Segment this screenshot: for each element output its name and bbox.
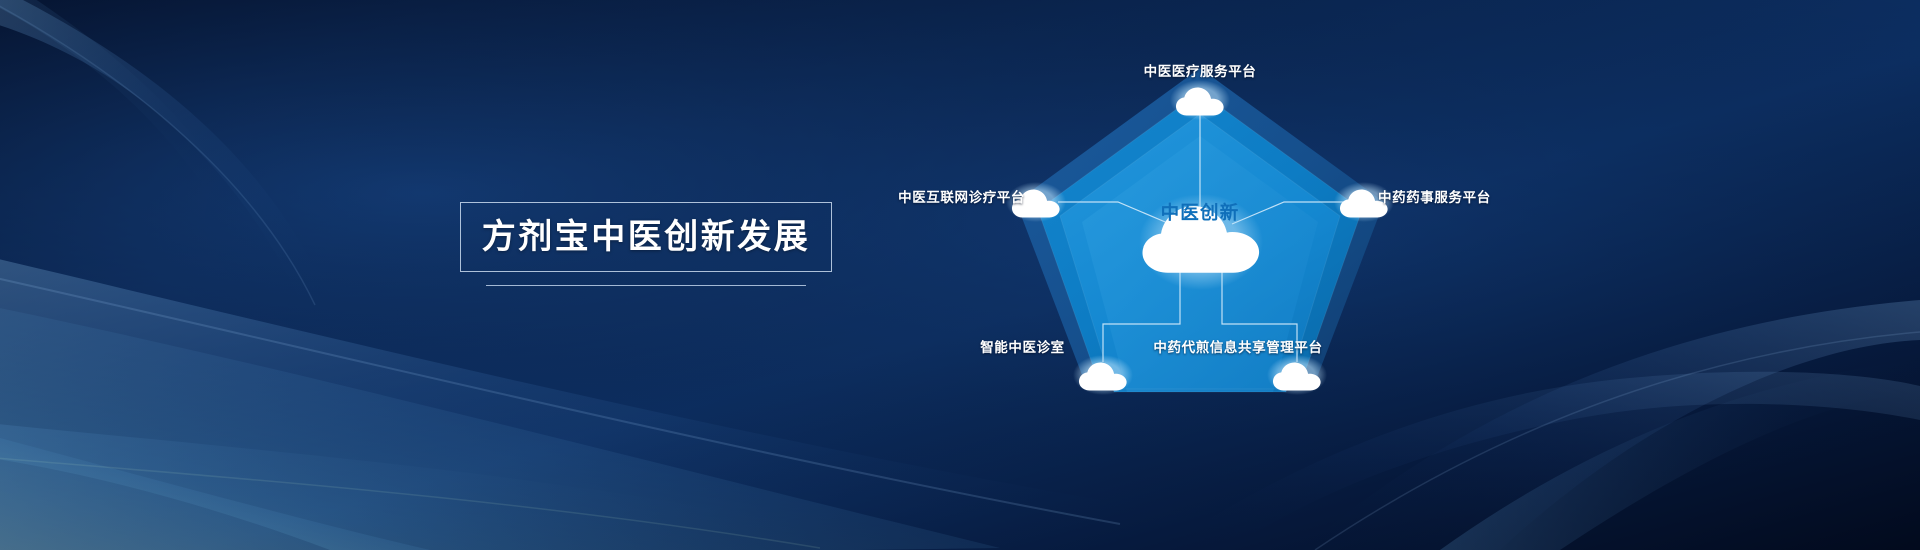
headline-underline [486,285,806,286]
pentagon-diagram: 中医医疗服务平台 中药药事服务平台 中药代煎信息共享管理平台 智能中医诊室 中医… [1000,62,1400,392]
node-label-top: 中医医疗服务平台 [1144,65,1257,79]
center-cloud[interactable] [1139,194,1263,290]
node-label-bottom-right: 中药代煎信息共享管理平台 [1118,341,1358,355]
headline-block: 方剂宝中医创新发展 [460,202,832,286]
background-decoration [0,0,1920,550]
headline-frame: 方剂宝中医创新发展 [460,202,832,272]
hero-banner: 方剂宝中医创新发展 [0,0,1920,550]
node-label-left: 中医互联网诊疗平台 [770,191,1025,205]
node-label-bottom-left: 智能中医诊室 [935,341,1110,355]
node-cloud-bottom-right[interactable] [1267,355,1327,395]
node-cloud-bottom-left[interactable] [1073,355,1133,395]
background-ribbons-svg [0,0,1920,550]
page-title: 方剂宝中医创新发展 [482,220,811,254]
node-cloud-top[interactable] [1170,80,1230,120]
node-label-right: 中药药事服务平台 [1378,191,1491,205]
